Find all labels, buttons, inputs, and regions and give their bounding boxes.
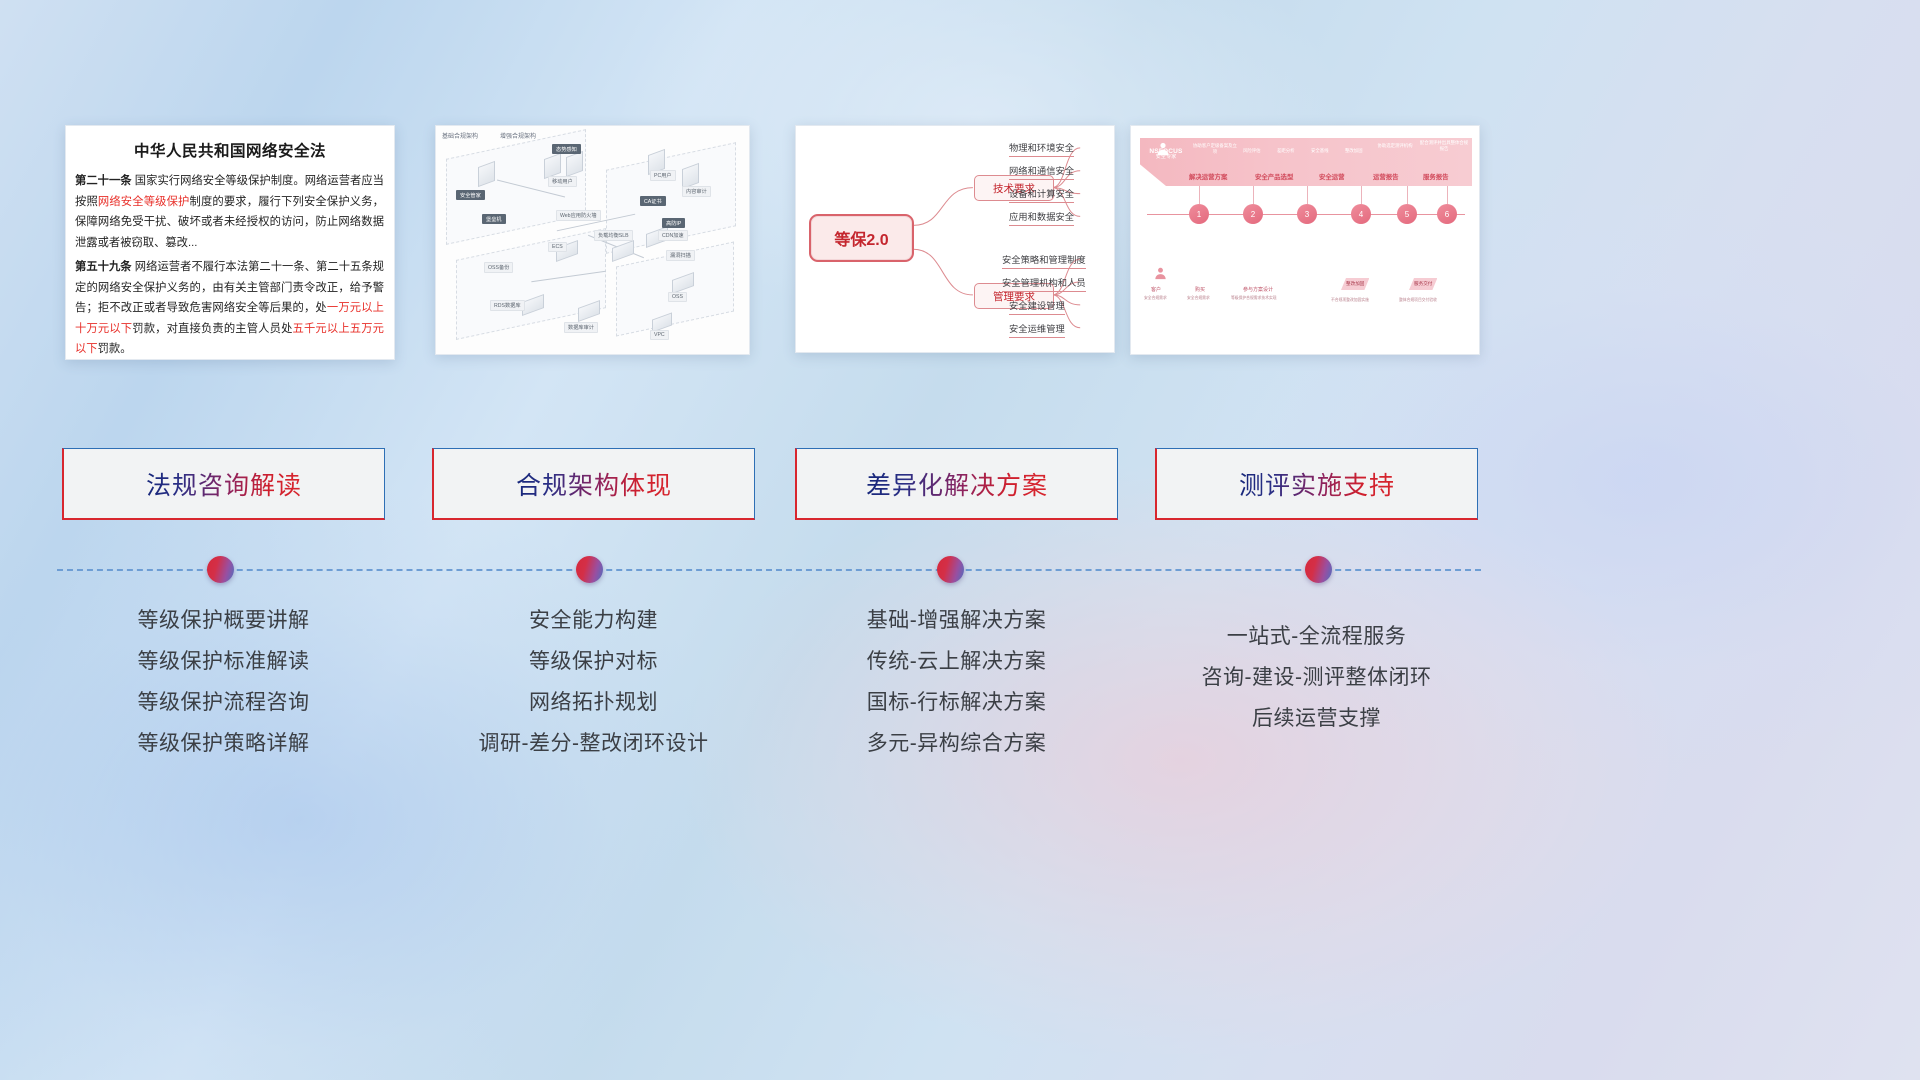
list-item: 等级保护概要讲解 <box>62 600 385 641</box>
footer-tag: 整改加固 <box>1341 278 1369 290</box>
arch-node-label: RDS数据库 <box>490 300 525 311</box>
preview-cards-row: 中华人民共和国网络安全法 第二十一条 国家实行网络安全等级保护制度。网络运营者应… <box>0 125 1920 360</box>
list-column-1: 等级保护概要讲解 等级保护标准解读 等级保护流程咨询 等级保护策略详解 <box>62 600 385 764</box>
list-item: 等级保护策略详解 <box>62 723 385 764</box>
arch-node-label: CDN加速 <box>658 230 688 241</box>
footer-tag: 服务交付 <box>1409 278 1437 290</box>
section-header-1[interactable]: 法规咨询解读 <box>62 448 385 520</box>
roadmap-diagram: NSFOCUS 安全专家 协助客户定级备案及立项 风险评估 差距分析 安全基线 … <box>1131 126 1479 354</box>
band-item: 协助客户定级备案及立项 <box>1193 143 1237 155</box>
footer-subtitle: 安全合规需求 <box>1144 296 1167 301</box>
mindmap-leaf: 物理和环境安全 <box>1009 140 1074 157</box>
section-title: 差异化解决方案 <box>866 466 1048 502</box>
roadmap-chip: 安全运营 <box>1319 172 1345 181</box>
list-column-4: 一站式-全流程服务 咨询-建设-测评整体闭环 后续运营支撑 <box>1155 616 1478 739</box>
footer-title: 购买 <box>1195 286 1205 293</box>
timeline-dashed-line <box>57 569 1481 571</box>
mindmap-leaf: 安全管理机构和人员 <box>1002 275 1086 292</box>
law-article-number: 第二十一条 <box>75 175 132 187</box>
law-paragraph: 第五十九条 网络运营者不履行本法第二十一条、第二十五条规定的网络安全保护义务的，… <box>75 257 384 360</box>
roadmap-tick <box>1361 186 1362 204</box>
customer-icon <box>1153 266 1168 286</box>
roadmap-tick <box>1253 186 1254 204</box>
footer-subtitle: 不合规项整改加固实施 <box>1331 298 1369 303</box>
arch-dark-label: CA证书 <box>640 196 666 206</box>
list-item: 国标-行标解决方案 <box>795 682 1118 723</box>
roadmap-tick <box>1199 186 1200 204</box>
brand-logo: NSFOCUS 安全专家 <box>1145 148 1187 161</box>
roadmap-tick <box>1447 186 1448 204</box>
section-header-3[interactable]: 差异化解决方案 <box>795 448 1118 520</box>
arch-dark-label: 态势感知 <box>552 144 581 154</box>
mindmap-leaf: 设备和计算安全 <box>1009 186 1074 203</box>
list-item: 等级保护标准解读 <box>62 641 385 682</box>
list-item: 多元-异构综合方案 <box>795 723 1118 764</box>
footer-title: 参与方案设计 <box>1243 286 1273 293</box>
card-cybersecurity-law[interactable]: 中华人民共和国网络安全法 第二十一条 国家实行网络安全等级保护制度。网络运营者应… <box>65 125 395 360</box>
law-run: 罚款。 <box>98 343 132 355</box>
list-item: 网络拓扑规划 <box>432 682 755 723</box>
roadmap-step[interactable]: 5 <box>1397 204 1417 224</box>
arch-node-label: 数据库审计 <box>564 322 598 333</box>
section-header-2[interactable]: 合规架构体现 <box>432 448 755 520</box>
mindmap-leaf: 安全策略和管理制度 <box>1002 252 1086 269</box>
roadmap-tick <box>1307 186 1308 204</box>
timeline-dot-4[interactable] <box>1305 556 1332 583</box>
arch-dark-label: 安全管家 <box>456 190 485 200</box>
roadmap-chip: 解决运营方案 <box>1189 172 1227 181</box>
band-item: 差距分析 <box>1277 148 1295 154</box>
roadmap-chip: 运营报告 <box>1373 172 1399 181</box>
brand-subtitle: 安全专家 <box>1145 155 1187 161</box>
roadmap-chip: 服务报告 <box>1423 172 1449 181</box>
arch-node-label: PC用户 <box>650 170 676 181</box>
list-column-2: 安全能力构建 等级保护对标 网络拓扑规划 调研-差分-整改闭环设计 <box>432 600 755 764</box>
band-item: 风险评估 <box>1243 148 1261 154</box>
card-dengbao-mindmap[interactable]: 等保2.0 技术要求 管理要求 物理和环境安全 网络和通信安全 设备和计算安全 … <box>795 125 1115 353</box>
arch-header-left: 基础合规架构 <box>442 131 478 140</box>
arch-node-label: OSS备份 <box>484 262 513 273</box>
architecture-diagram: 基础合规架构 增强合规架构 安全管家 态势感知 CA证书 <box>436 126 749 354</box>
list-item: 等级保护对标 <box>432 641 755 682</box>
arch-node-label: 负载均衡SLB <box>594 230 633 241</box>
arch-node-label: Web应用防火墙 <box>556 210 601 221</box>
list-item: 基础-增强解决方案 <box>795 600 1118 641</box>
list-item: 后续运营支撑 <box>1155 698 1478 739</box>
mindmap-leaf: 网络和通信安全 <box>1009 163 1074 180</box>
list-item: 咨询-建设-测评整体闭环 <box>1155 657 1478 698</box>
mindmap: 等保2.0 技术要求 管理要求 物理和环境安全 网络和通信安全 设备和计算安全 … <box>796 126 1114 352</box>
arch-node-label: VPC <box>650 330 669 340</box>
roadmap-tick <box>1407 186 1408 204</box>
list-item: 等级保护流程咨询 <box>62 682 385 723</box>
footer-subtitle: 等级保护合规需求技术实现 <box>1231 296 1277 301</box>
list-item: 安全能力构建 <box>432 600 755 641</box>
card-compliance-architecture[interactable]: 基础合规架构 增强合规架构 安全管家 态势感知 CA证书 <box>435 125 750 355</box>
section-title: 测评实施支持 <box>1239 466 1395 502</box>
arch-dark-label: 堡垒机 <box>482 214 506 224</box>
arch-node-label: OSS <box>668 292 687 302</box>
arch-node-label: ECS <box>548 242 567 252</box>
section-title: 法规咨询解读 <box>146 466 302 502</box>
roadmap-step[interactable]: 6 <box>1437 204 1457 224</box>
timeline-dot-1[interactable] <box>207 556 234 583</box>
band-item: 配合测评并出具整体合规报告 <box>1419 140 1469 152</box>
mindmap-leaf: 安全运维管理 <box>1009 321 1065 338</box>
mindmap-root-node[interactable]: 等保2.0 <box>809 214 914 262</box>
footer-subtitle: 整体合规项目交付验收 <box>1399 298 1437 303</box>
law-card-body: 第二十一条 国家实行网络安全等级保护制度。网络运营者应当按照网络安全等级保护制度… <box>66 171 394 360</box>
arch-node-label: 内容审计 <box>682 186 711 197</box>
footer-subtitle: 安全合规需求 <box>1187 296 1210 301</box>
card-nsfocus-roadmap[interactable]: NSFOCUS 安全专家 协助客户定级备案及立项 风险评估 差距分析 安全基线 … <box>1130 125 1480 355</box>
roadmap-step[interactable]: 1 <box>1189 204 1209 224</box>
list-item: 一站式-全流程服务 <box>1155 616 1478 657</box>
timeline-dot-2[interactable] <box>576 556 603 583</box>
section-lists: 等级保护概要讲解 等级保护标准解读 等级保护流程咨询 等级保护策略详解 安全能力… <box>0 600 1920 800</box>
roadmap-step[interactable]: 3 <box>1297 204 1317 224</box>
roadmap-step[interactable]: 2 <box>1243 204 1263 224</box>
law-card-title: 中华人民共和国网络安全法 <box>66 139 394 161</box>
arch-node-label: 移动用户 <box>548 176 577 187</box>
law-run-highlight: 网络安全等级保护 <box>98 196 190 208</box>
arch-header-right: 增强合规架构 <box>500 131 536 140</box>
band-item: 安全基线 <box>1311 148 1329 154</box>
roadmap-step[interactable]: 4 <box>1351 204 1371 224</box>
list-item: 传统-云上解决方案 <box>795 641 1118 682</box>
list-column-3: 基础-增强解决方案 传统-云上解决方案 国标-行标解决方案 多元-异构综合方案 <box>795 600 1118 764</box>
law-article-number: 第五十九条 <box>75 261 132 273</box>
arch-dark-label: 高防IP <box>662 218 685 228</box>
band-item: 整改加固 <box>1345 148 1363 154</box>
law-run: 罚款，对直接负责的主管人员处 <box>132 323 292 335</box>
list-item: 调研-差分-整改闭环设计 <box>432 723 755 764</box>
section-title: 合规架构体现 <box>516 466 672 502</box>
timeline-dot-3[interactable] <box>937 556 964 583</box>
arch-node-label: 漏洞扫描 <box>666 250 695 261</box>
mindmap-leaf: 安全建设管理 <box>1009 298 1065 315</box>
band-item: 协助选定测评机构 <box>1375 143 1415 149</box>
roadmap-chip: 安全产品选型 <box>1255 172 1293 181</box>
timeline <box>0 556 1920 586</box>
mindmap-leaf: 应用和数据安全 <box>1009 209 1074 226</box>
section-header-4[interactable]: 测评实施支持 <box>1155 448 1478 520</box>
law-paragraph: 第二十一条 国家实行网络安全等级保护制度。网络运营者应当按照网络安全等级保护制度… <box>75 171 384 253</box>
section-headers: 法规咨询解读 合规架构体现 差异化解决方案 测评实施支持 <box>0 448 1920 528</box>
footer-title: 客户 <box>1151 286 1161 293</box>
